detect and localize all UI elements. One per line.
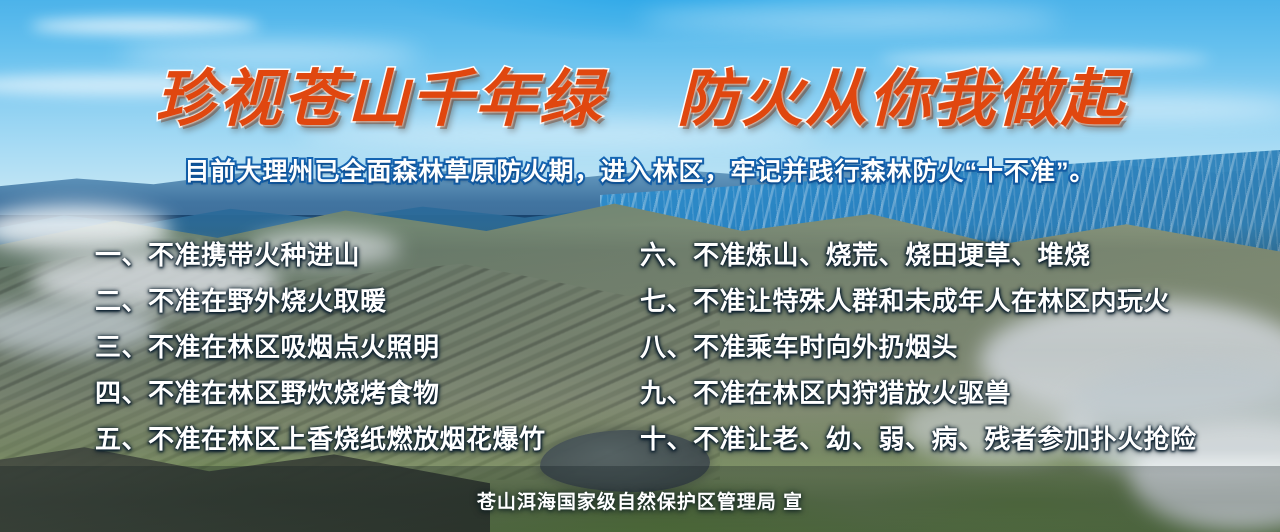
cloud-wisp [30,18,260,34]
rule-item-2: 二、不准在野外烧火取暖 [95,278,640,324]
rule-item-5: 五、不准在林区上香烧纸燃放烟花爆竹 [95,416,640,462]
rules-column-left: 一、不准携带火种进山 二、不准在野外烧火取暖 三、不准在林区吸烟点火照明 四、不… [0,228,640,478]
headline-primary: 珍视苍山千年绿 [155,48,603,138]
rule-item-8: 八、不准乘车时向外扔烟头 [640,324,1280,370]
rule-item-4: 四、不准在林区野炊烧烤食物 [95,370,640,416]
headline-secondary: 防火从你我做起 [677,48,1125,138]
rule-item-6: 六、不准炼山、烧荒、烧田埂草、堆烧 [640,232,1280,278]
fire-prevention-poster: 珍视苍山千年绿 防火从你我做起 目前大理州已全面森林草原防火期，进入林区，牢记并… [0,0,1280,532]
rules-column-right: 六、不准炼山、烧荒、烧田埂草、堆烧 七、不准让特殊人群和未成年人在林区内玩火 八… [640,228,1280,478]
rule-item-9: 九、不准在林区内狩猎放火驱兽 [640,370,1280,416]
rule-item-10: 十、不准让老、幼、弱、病、残者参加扑火抢险 [640,416,1280,462]
ten-prohibitions-list: 一、不准携带火种进山 二、不准在野外烧火取暖 三、不准在林区吸烟点火照明 四、不… [0,228,1280,478]
cloud-wisp [640,10,1060,28]
subtitle-notice: 目前大理州已全面森林草原防火期，进入林区，牢记并践行森林防火“十不准”。 [0,152,1280,188]
headline-row: 珍视苍山千年绿 防火从你我做起 [0,48,1280,138]
rule-item-3: 三、不准在林区吸烟点火照明 [95,324,640,370]
rule-item-7: 七、不准让特殊人群和未成年人在林区内玩火 [640,278,1280,324]
issuing-authority: 苍山洱海国家级自然保护区管理局 宣 [0,487,1280,514]
rule-item-1: 一、不准携带火种进山 [95,232,640,278]
